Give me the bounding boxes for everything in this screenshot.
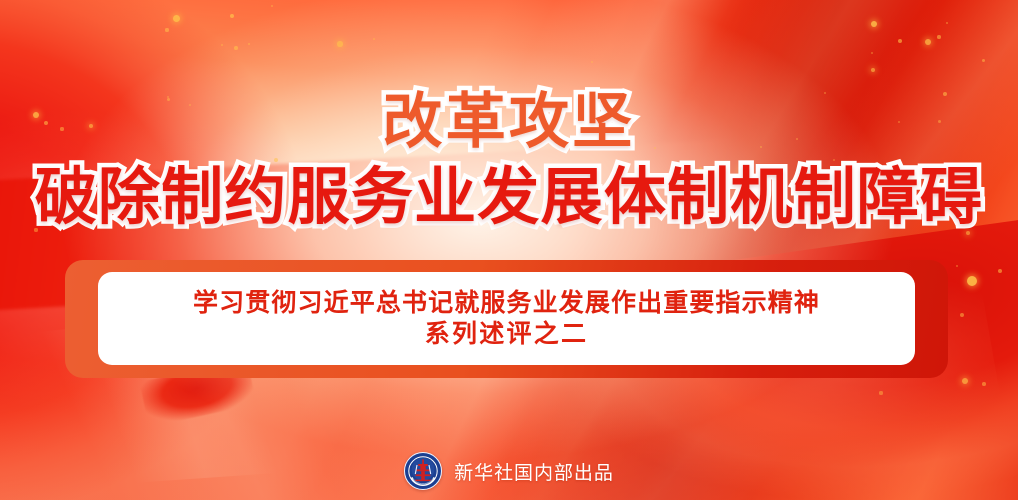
- footer-block: 新华社国内部出品: [0, 452, 1018, 490]
- subtitle-line-1: 学习贯彻习近平总书记就服务业发展作出重要指示精神: [193, 289, 820, 317]
- headline-line-1: 改革攻坚: [0, 92, 1018, 152]
- headline-line-2: 破除制约服务业发展体制机制障碍: [0, 166, 1018, 228]
- headline-block: 改革攻坚 破除制约服务业发展体制机制障碍: [0, 92, 1018, 228]
- subtitle-line-2: 系列述评之二: [425, 320, 589, 348]
- banner-root: 改革攻坚 破除制约服务业发展体制机制障碍 学习贯彻习近平总书记就服务业发展作出重…: [0, 0, 1018, 500]
- xinhua-agency-logo-icon: [404, 452, 442, 490]
- background-vignette: [0, 0, 1018, 500]
- subtitle-card: 学习贯彻习近平总书记就服务业发展作出重要指示精神 系列述评之二: [98, 272, 915, 365]
- footer-attribution-text: 新华社国内部出品: [454, 458, 614, 485]
